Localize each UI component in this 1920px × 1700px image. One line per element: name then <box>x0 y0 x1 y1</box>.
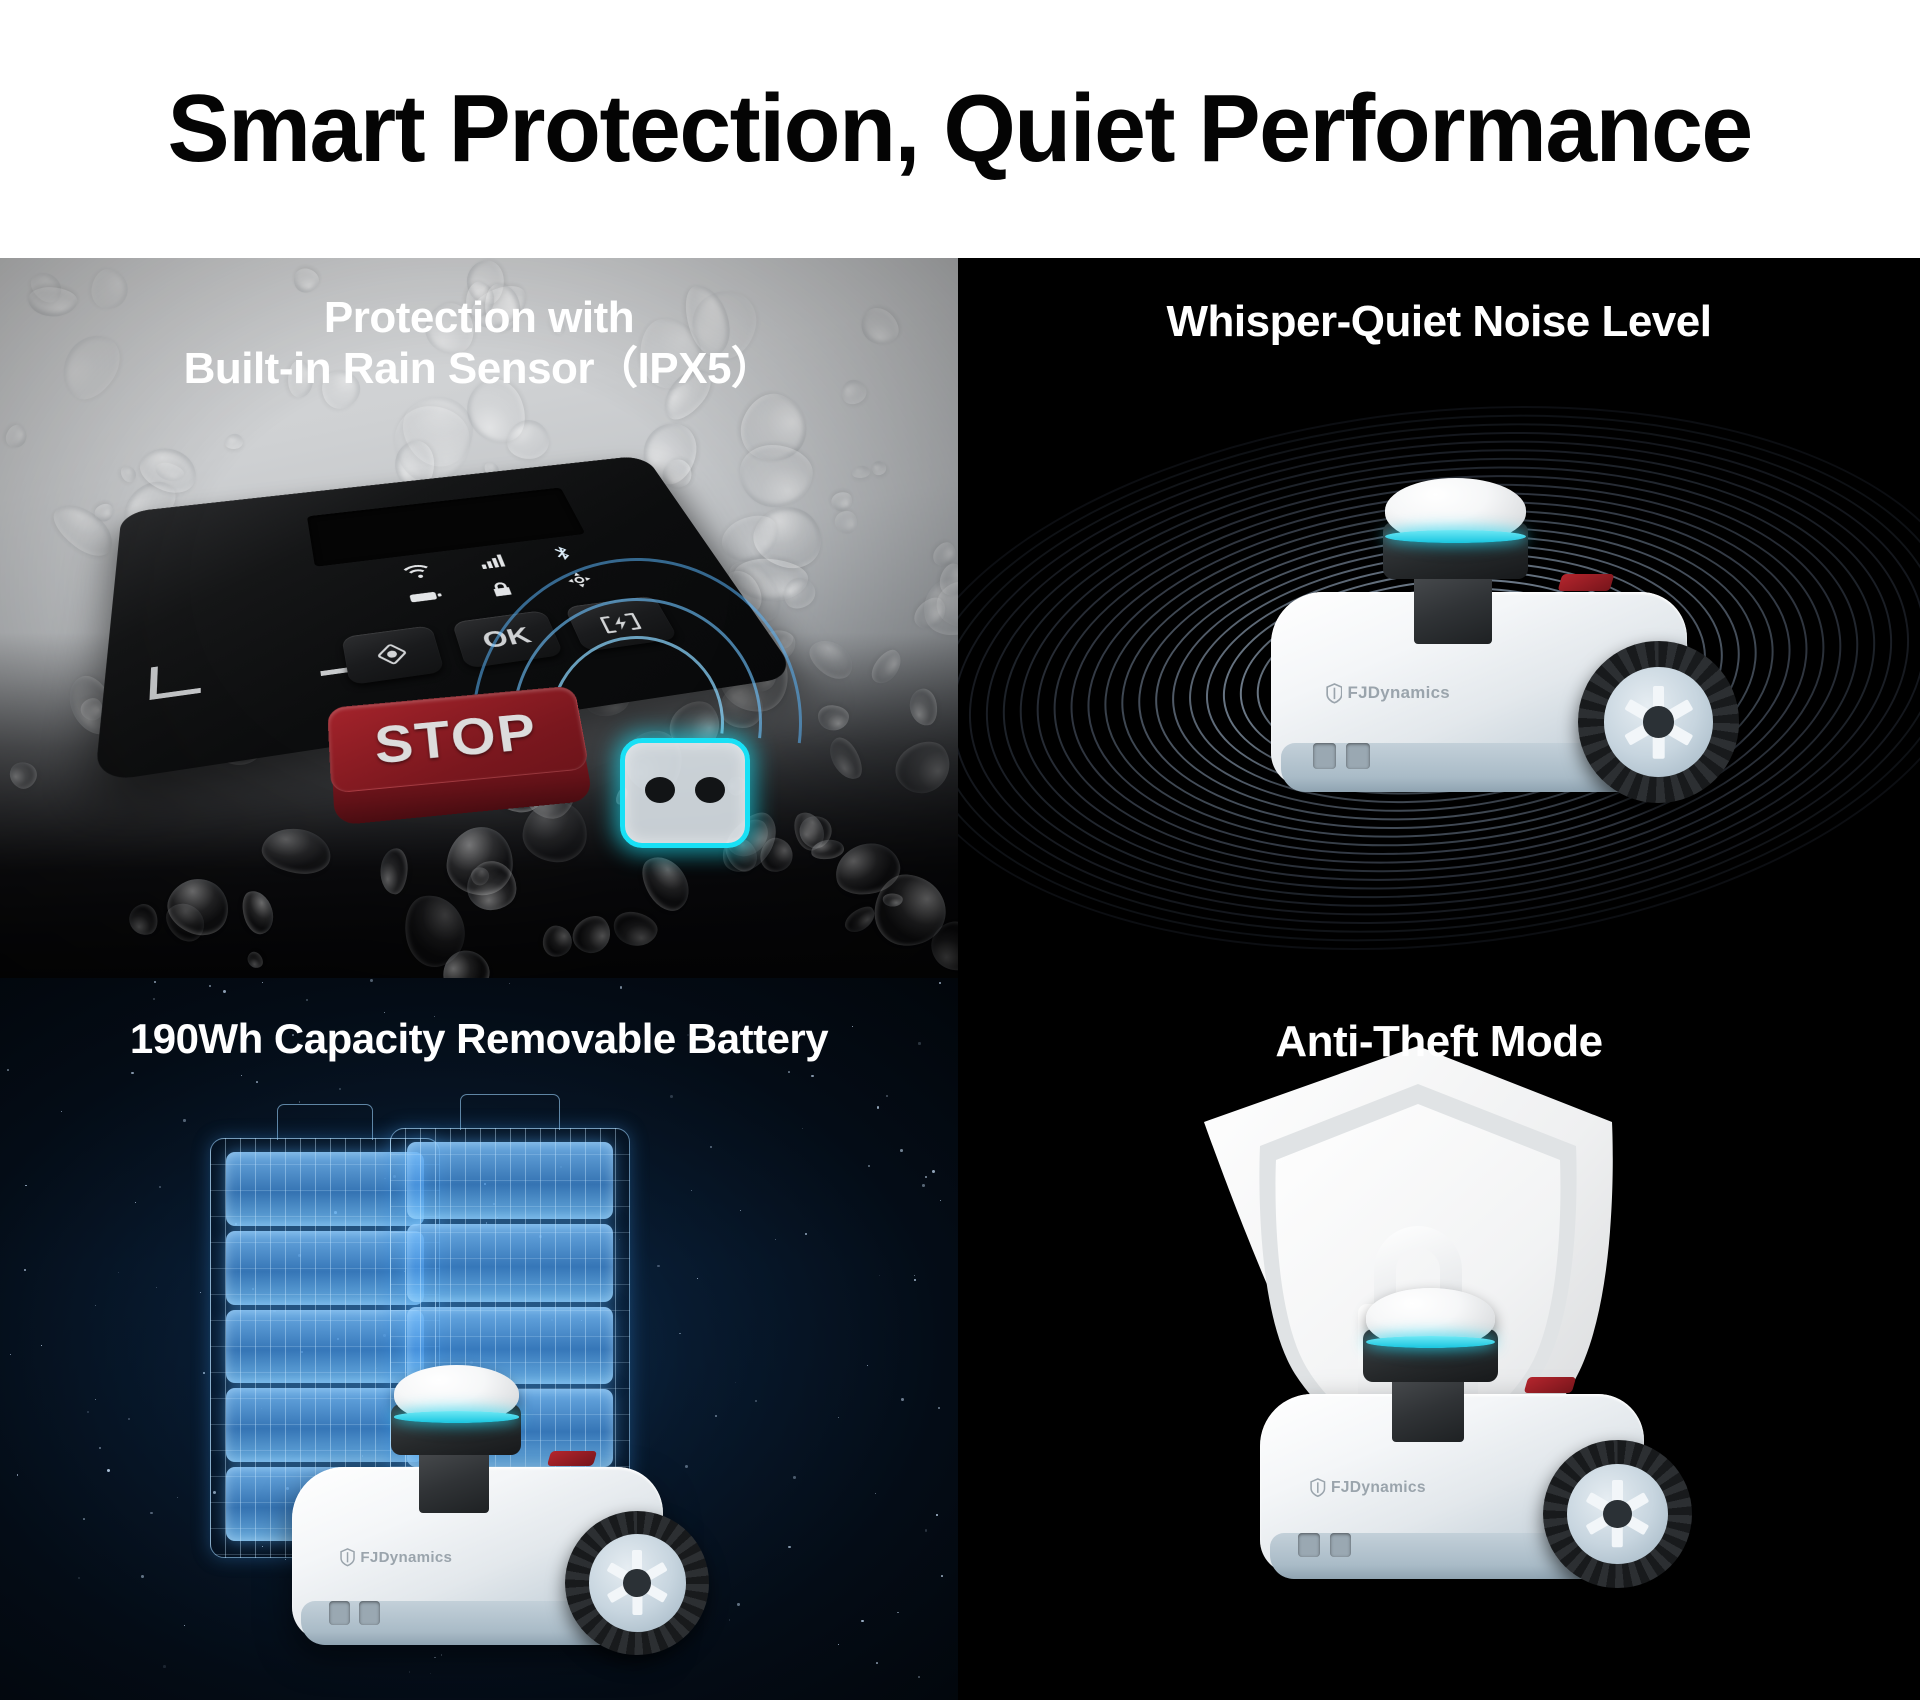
background-particle <box>78 1577 80 1579</box>
background-particle <box>384 1012 385 1013</box>
background-particle <box>153 998 155 1000</box>
background-particle <box>17 1474 18 1475</box>
fjdynamics-shield-mark <box>1326 683 1343 704</box>
panel-title-anti-theft: Anti-Theft Mode <box>958 1016 1920 1067</box>
background-particle <box>914 1279 915 1280</box>
background-particle <box>737 1603 739 1605</box>
mower-brand-text: FJDynamics <box>360 1549 452 1566</box>
background-particle <box>118 1272 119 1273</box>
background-particle <box>922 1184 925 1187</box>
background-particle <box>710 1146 712 1148</box>
mower-front-vent-a <box>1298 1533 1320 1557</box>
mower-front-vent-b <box>1330 1533 1352 1557</box>
page-header: Smart Protection, Quiet Performance <box>0 0 1920 258</box>
panel-title-battery: 190Wh Capacity Removable Battery <box>0 1014 958 1063</box>
background-particle <box>900 1149 903 1152</box>
mower-front-vent-a <box>329 1601 350 1624</box>
background-particle <box>914 1275 915 1276</box>
mower-brand-logo: FJDynamics <box>1310 1478 1425 1497</box>
panel-noise-level: FJDynamics Whisper-Quiet Noise Level <box>958 258 1920 978</box>
robot-mower-noise: FJDynamics <box>1258 488 1698 788</box>
page-title: Smart Protection, Quiet Performance <box>168 74 1752 184</box>
background-particle <box>61 1111 62 1112</box>
battery-cap-left <box>277 1104 373 1140</box>
background-particle <box>262 982 263 983</box>
fjdynamics-shield-mark <box>1310 1478 1326 1497</box>
mower-wheel-hub-core <box>1603 1500 1632 1529</box>
mower-led-ring <box>1385 530 1525 543</box>
background-particle <box>788 1546 791 1549</box>
background-particle <box>941 1575 943 1577</box>
background-particle <box>867 1365 868 1366</box>
background-particle <box>620 986 622 988</box>
background-particle <box>861 1620 864 1623</box>
background-particle <box>838 1644 839 1645</box>
panel-removable-battery: FJDynamics 190Wh Capacity Removable Batt… <box>0 978 958 1700</box>
panel-title-noise-line1: Whisper-Quiet Noise Level <box>958 296 1920 347</box>
background-particle <box>183 1119 185 1121</box>
mower-stop-button <box>547 1451 598 1466</box>
panel-title-noise-level: Whisper-Quiet Noise Level <box>958 296 1920 347</box>
mower-brand-text: FJDynamics <box>1347 683 1450 703</box>
background-particle <box>7 1069 9 1071</box>
stop-button-label: STOP <box>372 702 542 776</box>
background-particle <box>925 1176 927 1178</box>
background-particle <box>875 1493 876 1494</box>
background-particle <box>163 1665 166 1668</box>
background-particle <box>159 1186 161 1188</box>
background-particle <box>918 1676 920 1678</box>
background-particle <box>99 1447 101 1449</box>
mower-brand-logo: FJDynamics <box>340 1548 452 1567</box>
panel-rain-sensor: OK STOP Protection with Built-in Rain Se… <box>0 258 958 978</box>
background-particle <box>802 1128 803 1129</box>
background-particle <box>879 1275 880 1276</box>
background-particle <box>657 1265 659 1267</box>
background-particle <box>897 1612 899 1614</box>
robot-mower-battery: FJDynamics <box>280 1374 700 1634</box>
rain-sensor-dot-right <box>695 777 725 803</box>
background-particle <box>41 1345 42 1346</box>
background-particle <box>938 1407 940 1409</box>
mower-led-ring <box>394 1411 519 1423</box>
background-particle <box>886 1095 888 1097</box>
background-particle <box>241 1075 242 1076</box>
background-particle <box>876 1662 878 1664</box>
mower-wheel-hub-core <box>623 1569 651 1597</box>
panel-anti-theft: FJDynamics Anti-Theft Mode <box>958 978 1920 1700</box>
mower-stop-button <box>1557 574 1614 591</box>
background-particle <box>793 1476 796 1479</box>
mower-stop-button <box>1524 1377 1576 1393</box>
rain-sensor-module <box>620 738 750 848</box>
background-particle <box>932 1170 935 1173</box>
background-particle <box>901 1398 904 1401</box>
mower-brand-text: FJDynamics <box>1331 1479 1426 1497</box>
feature-grid: OK STOP Protection with Built-in Rain Se… <box>0 258 1920 1700</box>
background-particle <box>670 1095 673 1098</box>
mower-front-vent-b <box>359 1601 380 1624</box>
panel-title-rain-line2: Built-in Rain Sensor（IPX5） <box>0 343 958 394</box>
mower-front-vent-b <box>1346 743 1369 769</box>
background-particle <box>409 1671 411 1673</box>
robot-mower-anti-theft: FJDynamics <box>1248 1298 1678 1598</box>
background-particle <box>95 1305 96 1306</box>
mower-wheel-hub-core <box>1643 706 1674 737</box>
battery-cap-right <box>460 1094 560 1130</box>
rain-sensor-housing <box>620 738 750 848</box>
mower-sensor-neck <box>1414 569 1492 644</box>
background-particle <box>131 1072 134 1075</box>
mower-sensor-neck <box>419 1446 489 1513</box>
panel-title-rain-sensor: Protection with Built-in Rain Sensor（IPX… <box>0 292 958 395</box>
panel-title-battery-line1: 190Wh Capacity Removable Battery <box>0 1014 958 1063</box>
background-particle <box>141 1575 144 1578</box>
mower-front-vent-a <box>1313 743 1336 769</box>
panel-title-theft-line1: Anti-Theft Mode <box>958 1016 1920 1067</box>
background-particle <box>936 1514 938 1516</box>
background-particle <box>697 1278 698 1279</box>
mower-sensor-neck <box>1392 1372 1464 1442</box>
panel-title-rain-line1: Protection with <box>0 292 958 343</box>
fjdynamics-shield-mark <box>340 1548 355 1567</box>
mower-brand-logo: FJDynamics <box>1326 683 1450 704</box>
background-particle <box>434 1657 435 1658</box>
rain-sensor-dot-left <box>645 777 675 803</box>
background-particle <box>775 1239 776 1240</box>
